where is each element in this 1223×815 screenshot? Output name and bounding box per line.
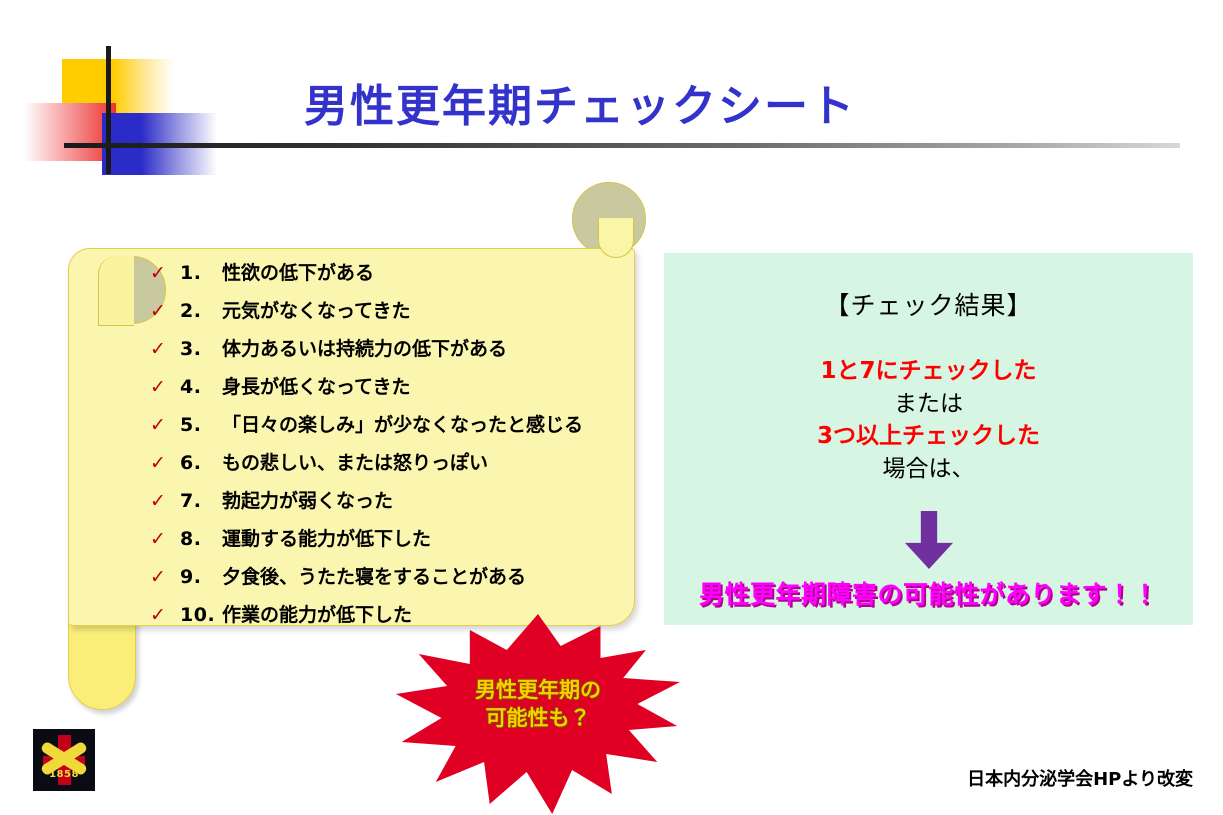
checklist-item-label: 「日々の楽しみ」が少なくなったと感じる: [222, 410, 583, 437]
checklist-item-label: 勃起力が弱くなった: [222, 486, 393, 513]
checklist-item[interactable]: ✓ 7. 勃起力が弱くなった: [150, 486, 620, 524]
checklist-item-label: 作業の能力が低下した: [222, 600, 412, 627]
checklist-item[interactable]: ✓ 3. 体力あるいは持続力の低下がある: [150, 334, 620, 372]
check-icon: ✓: [150, 264, 180, 283]
checklist-item-number: 6.: [180, 452, 222, 474]
check-icon: ✓: [150, 530, 180, 549]
checklist-item-number: 7.: [180, 490, 222, 512]
check-icon: ✓: [150, 492, 180, 511]
checklist-item-number: 10.: [180, 604, 222, 626]
starburst-line-2: 可能性も？: [396, 704, 680, 732]
starburst-callout: 男性更年期の 可能性も？: [396, 614, 680, 814]
symptom-checklist: ✓ 1. 性欲の低下がある ✓ 2. 元気がなくなってきた ✓ 3. 体力あるい…: [150, 258, 620, 638]
checklist-item-number: 5.: [180, 414, 222, 436]
logo-year-label: 1858: [33, 769, 95, 780]
check-icon: ✓: [150, 568, 180, 587]
checklist-item[interactable]: ✓ 4. 身長が低くなってきた: [150, 372, 620, 410]
slide-canvas: 男性更年期チェックシート ✓ 1. 性欲の低下がある ✓ 2. 元気がなくなって…: [0, 0, 1223, 815]
checklist-item[interactable]: ✓ 5. 「日々の楽しみ」が少なくなったと感じる: [150, 410, 620, 448]
result-heading: 【チェック結果】: [664, 286, 1193, 322]
checklist-item-number: 1.: [180, 262, 222, 284]
result-line-3: 3つ以上チェックした: [664, 420, 1193, 453]
scroll-curl-left-notch-icon: [98, 256, 134, 326]
checklist-item-label: 運動する能力が低下した: [222, 524, 431, 551]
checklist-item-label: 身長が低くなってきた: [222, 372, 410, 399]
checklist-item[interactable]: ✓ 9. 夕食後、うたた寝をすることがある: [150, 562, 620, 600]
vertical-rule: [106, 46, 111, 174]
checklist-item[interactable]: ✓ 8. 運動する能力が低下した: [150, 524, 620, 562]
checklist-item-label: もの悲しい、または怒りっぽい: [222, 448, 488, 475]
checklist-item-label: 元気がなくなってきた: [222, 296, 410, 323]
page-title: 男性更年期チェックシート: [230, 84, 930, 130]
checklist-item-label: 夕食後、うたた寝をすることがある: [222, 562, 526, 589]
result-line-1: 1と7にチェックした: [664, 355, 1193, 388]
result-line-4: 場合は、: [664, 453, 1193, 486]
checklist-item-label: 性欲の低下がある: [222, 258, 374, 285]
checklist-item[interactable]: ✓ 1. 性欲の低下がある: [150, 258, 620, 296]
scroll-curl-top-notch-icon: [598, 218, 634, 258]
check-icon: ✓: [150, 378, 180, 397]
checklist-item[interactable]: ✓ 2. 元気がなくなってきた: [150, 296, 620, 334]
result-conclusion: 男性更年期障害の可能性があります！！: [664, 575, 1193, 611]
checklist-item[interactable]: ✓ 6. もの悲しい、または怒りっぽい: [150, 448, 620, 486]
checklist-item-label: 体力あるいは持続力の低下がある: [222, 334, 507, 361]
checklist-item-number: 9.: [180, 566, 222, 588]
result-panel: 【チェック結果】 1と7にチェックした または 3つ以上チェックした 場合は、 …: [664, 253, 1193, 625]
check-icon: ✓: [150, 606, 180, 625]
check-icon: ✓: [150, 416, 180, 435]
down-arrow-shape: [905, 511, 953, 569]
checklist-item-number: 8.: [180, 528, 222, 550]
checklist-item-number: 3.: [180, 338, 222, 360]
check-icon: ✓: [150, 340, 180, 359]
checklist-item-number: 4.: [180, 376, 222, 398]
check-icon: ✓: [150, 302, 180, 321]
check-icon: ✓: [150, 454, 180, 473]
result-condition-list: 1と7にチェックした または 3つ以上チェックした 場合は、: [664, 355, 1193, 486]
result-line-2: または: [664, 388, 1193, 421]
title-underline: [64, 143, 1180, 148]
institution-logo: 1858: [33, 729, 95, 791]
starburst-text: 男性更年期の 可能性も？: [396, 676, 680, 733]
checklist-item-number: 2.: [180, 300, 222, 322]
source-credit: 日本内分泌学会HPより改変: [833, 765, 1193, 791]
starburst-line-1: 男性更年期の: [396, 676, 680, 704]
down-arrow-icon: [905, 511, 953, 569]
